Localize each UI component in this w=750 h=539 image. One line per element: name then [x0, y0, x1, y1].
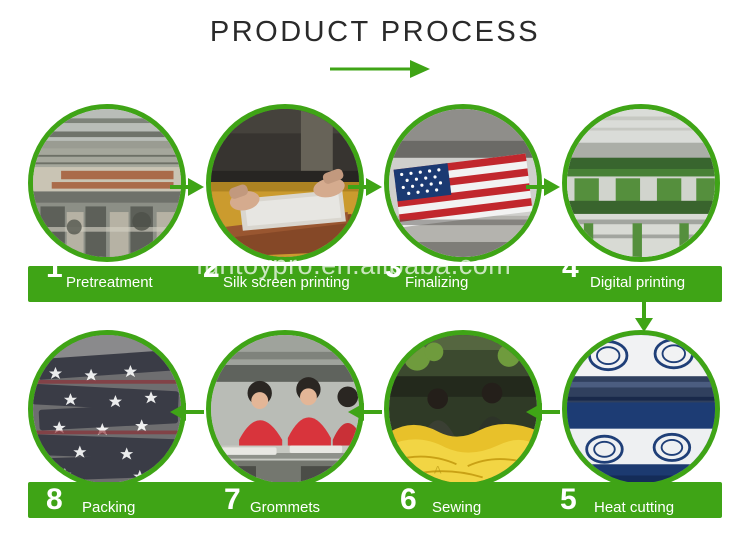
arrow-right-icon: [170, 175, 204, 199]
step-number-5: 5: [560, 485, 577, 515]
step-image-7: [206, 330, 364, 488]
arrow-down-icon: [632, 302, 656, 332]
step-image-3: [384, 104, 542, 262]
arrow-left-icon: [348, 400, 382, 424]
digital-printing-line-photo: [567, 109, 715, 257]
step-label-1: Pretreatment: [66, 275, 153, 290]
workers-in-red-shirts-grommets-photo: [211, 335, 359, 483]
textile-loom-machine-photo: [33, 109, 181, 257]
step-number-1: 1: [46, 253, 63, 283]
step-label-8: Packing: [82, 500, 135, 515]
step-image-5: [562, 330, 720, 488]
arrow-left-icon: [170, 400, 204, 424]
process-diagram: PRODUCT PROCESS: [0, 0, 750, 539]
workers-sewing-yellow-fabric-photo: A: [389, 335, 537, 483]
arrow-right-icon: [526, 175, 560, 199]
step-label-2: Silk screen printing: [223, 275, 350, 290]
step-image-4: [562, 104, 720, 262]
svg-text:A: A: [434, 465, 442, 477]
page-title: PRODUCT PROCESS: [0, 16, 750, 49]
blue-white-printed-rolls-photo: [567, 335, 715, 483]
step-label-3: Finalizing: [405, 275, 468, 290]
step-number-3: 3: [385, 253, 402, 283]
hands-silk-screen-frame-photo: [211, 109, 359, 257]
step-label-7: Grommets: [250, 500, 320, 515]
step-number-7: 7: [224, 485, 241, 515]
step-label-4: Digital printing: [590, 275, 685, 290]
arrow-right-icon: [348, 175, 382, 199]
folded-star-flags-stack-photo: [33, 335, 181, 483]
step-number-2: 2: [203, 253, 220, 283]
step-label-5: Heat cutting: [594, 500, 674, 515]
step-image-8: [28, 330, 186, 488]
step-number-8: 8: [46, 485, 63, 515]
step-image-6: A: [384, 330, 542, 488]
arrow-left-icon: [526, 400, 560, 424]
step-image-2: [206, 104, 364, 262]
step-image-1: [28, 104, 186, 262]
step-number-6: 6: [400, 485, 417, 515]
printed-usa-flag-fabric-photo: [389, 109, 537, 257]
step-number-4: 4: [562, 253, 579, 283]
step-label-6: Sewing: [432, 500, 481, 515]
arrow-right-icon: [330, 58, 430, 80]
